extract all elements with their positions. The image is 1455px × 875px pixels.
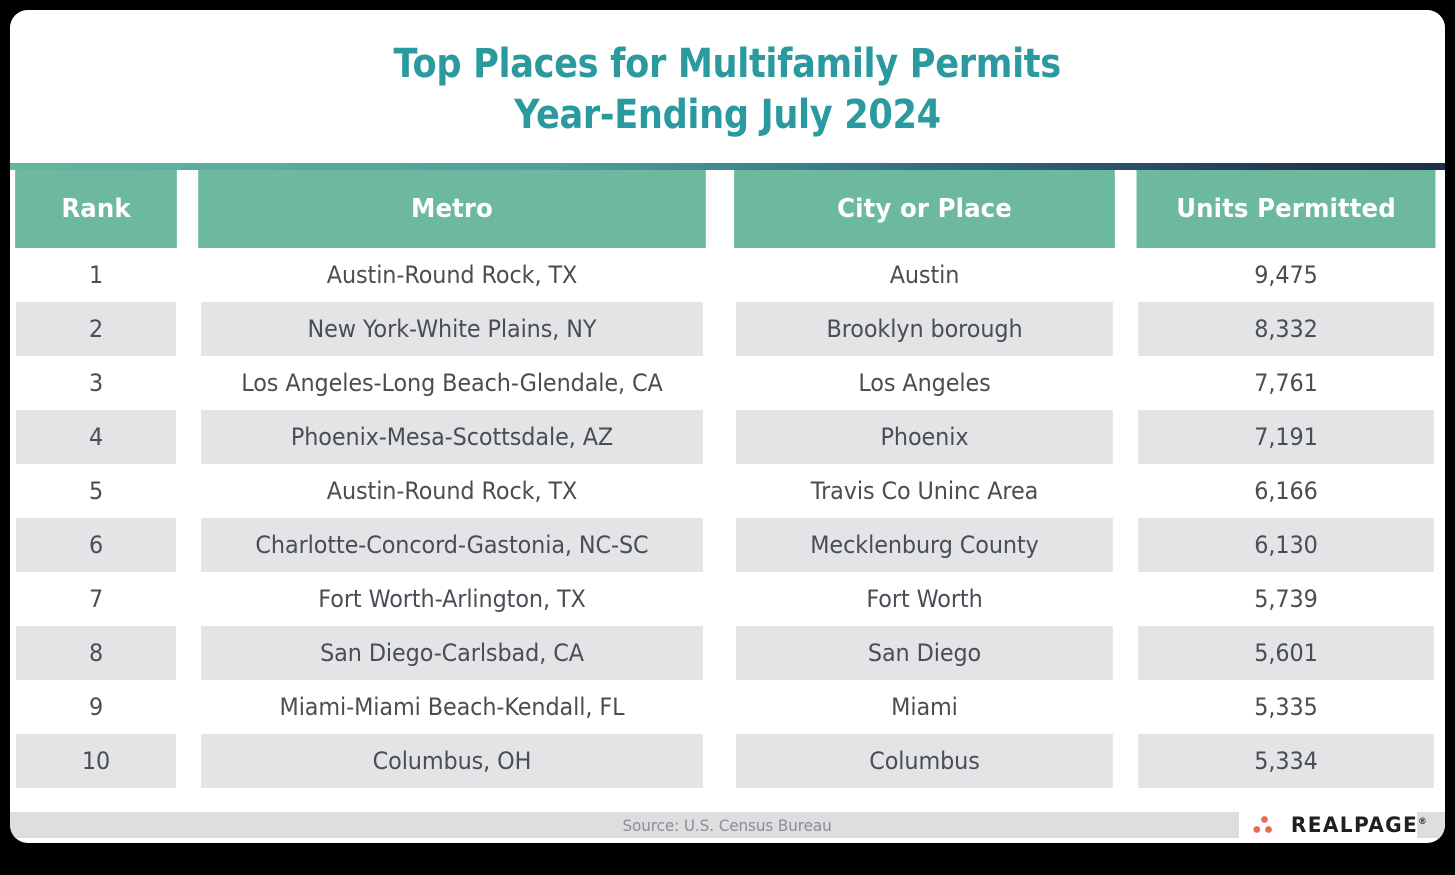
cell-rank: 2 <box>16 302 176 356</box>
realpage-dots-icon <box>1253 814 1283 836</box>
registered-trademark-icon: ® <box>1418 817 1427 827</box>
cell-metro: Charlotte-Concord-Gastonia, NC-SC <box>201 518 703 572</box>
table-body: 1 Austin-Round Rock, TX Austin 9,475 2 N… <box>10 248 1445 788</box>
cell-metro: Austin-Round Rock, TX <box>201 248 703 302</box>
cell-metro: Los Angeles-Long Beach-Glendale, CA <box>201 356 703 410</box>
cell-units: 5,335 <box>1138 680 1434 734</box>
cell-metro: Austin-Round Rock, TX <box>201 464 703 518</box>
cell-city: Columbus <box>736 734 1113 788</box>
footer-bar: Source: U.S. Census Bureau REALPAGE® <box>10 812 1445 838</box>
realpage-wordmark: REALPAGE® <box>1291 813 1427 837</box>
table-row: 10 Columbus, OH Columbus 5,334 <box>10 734 1445 788</box>
footer-spacer <box>10 788 1445 812</box>
cell-metro: New York-White Plains, NY <box>201 302 703 356</box>
table-row: 7 Fort Worth-Arlington, TX Fort Worth 5,… <box>10 572 1445 626</box>
cell-units: 7,761 <box>1138 356 1434 410</box>
cell-metro: Miami-Miami Beach-Kendall, FL <box>201 680 703 734</box>
cell-units: 9,475 <box>1138 248 1434 302</box>
page-title-line-2: Year-Ending July 2024 <box>514 90 941 141</box>
page-title-line-1: Top Places for Multifamily Permits <box>394 39 1061 90</box>
cell-rank: 5 <box>16 464 176 518</box>
cell-city: San Diego <box>736 626 1113 680</box>
cell-city: Austin <box>736 248 1113 302</box>
permits-table: Rank Metro City or Place Units Permitted… <box>10 170 1445 788</box>
cell-rank: 6 <box>16 518 176 572</box>
cell-rank: 1 <box>16 248 176 302</box>
realpage-wordmark-text: REALPAGE <box>1291 813 1418 837</box>
cell-units: 5,601 <box>1138 626 1434 680</box>
report-card: Top Places for Multifamily Permits Year-… <box>10 10 1445 843</box>
table-row: 2 New York-White Plains, NY Brooklyn bor… <box>10 302 1445 356</box>
cell-city: Mecklenburg County <box>736 518 1113 572</box>
cell-rank: 10 <box>16 734 176 788</box>
cell-units: 7,191 <box>1138 410 1434 464</box>
table-row: 9 Miami-Miami Beach-Kendall, FL Miami 5,… <box>10 680 1445 734</box>
cell-city: Travis Co Uninc Area <box>736 464 1113 518</box>
table-row: 3 Los Angeles-Long Beach-Glendale, CA Lo… <box>10 356 1445 410</box>
cell-rank: 9 <box>16 680 176 734</box>
table-header-row: Rank Metro City or Place Units Permitted <box>10 170 1445 248</box>
cell-city: Fort Worth <box>736 572 1113 626</box>
cell-units: 5,334 <box>1138 734 1434 788</box>
column-header-rank: Rank <box>15 170 177 248</box>
table-row: 1 Austin-Round Rock, TX Austin 9,475 <box>10 248 1445 302</box>
realpage-logo: REALPAGE® <box>1239 802 1417 843</box>
table-row: 8 San Diego-Carlsbad, CA San Diego 5,601 <box>10 626 1445 680</box>
column-header-metro: Metro <box>198 170 706 248</box>
table-head: Rank Metro City or Place Units Permitted <box>10 170 1445 248</box>
table-row: 4 Phoenix-Mesa-Scottsdale, AZ Phoenix 7,… <box>10 410 1445 464</box>
cell-units: 5,739 <box>1138 572 1434 626</box>
cell-city: Phoenix <box>736 410 1113 464</box>
cell-metro: Phoenix-Mesa-Scottsdale, AZ <box>201 410 703 464</box>
cell-units: 6,166 <box>1138 464 1434 518</box>
cell-metro: Fort Worth-Arlington, TX <box>201 572 703 626</box>
table-row: 5 Austin-Round Rock, TX Travis Co Uninc … <box>10 464 1445 518</box>
cell-rank: 3 <box>16 356 176 410</box>
cell-metro: Columbus, OH <box>201 734 703 788</box>
cell-units: 6,130 <box>1138 518 1434 572</box>
cell-city: Brooklyn borough <box>736 302 1113 356</box>
cell-city: Miami <box>736 680 1113 734</box>
column-header-units: Units Permitted <box>1137 170 1436 248</box>
cell-city: Los Angeles <box>736 356 1113 410</box>
accent-gradient-rule <box>10 163 1445 170</box>
cell-rank: 8 <box>16 626 176 680</box>
cell-metro: San Diego-Carlsbad, CA <box>201 626 703 680</box>
source-note: Source: U.S. Census Bureau <box>623 816 832 835</box>
column-header-city: City or Place <box>734 170 1115 248</box>
cell-units: 8,332 <box>1138 302 1434 356</box>
table-row: 6 Charlotte-Concord-Gastonia, NC-SC Meck… <box>10 518 1445 572</box>
title-block: Top Places for Multifamily Permits Year-… <box>10 10 1445 163</box>
cell-rank: 4 <box>16 410 176 464</box>
cell-rank: 7 <box>16 572 176 626</box>
